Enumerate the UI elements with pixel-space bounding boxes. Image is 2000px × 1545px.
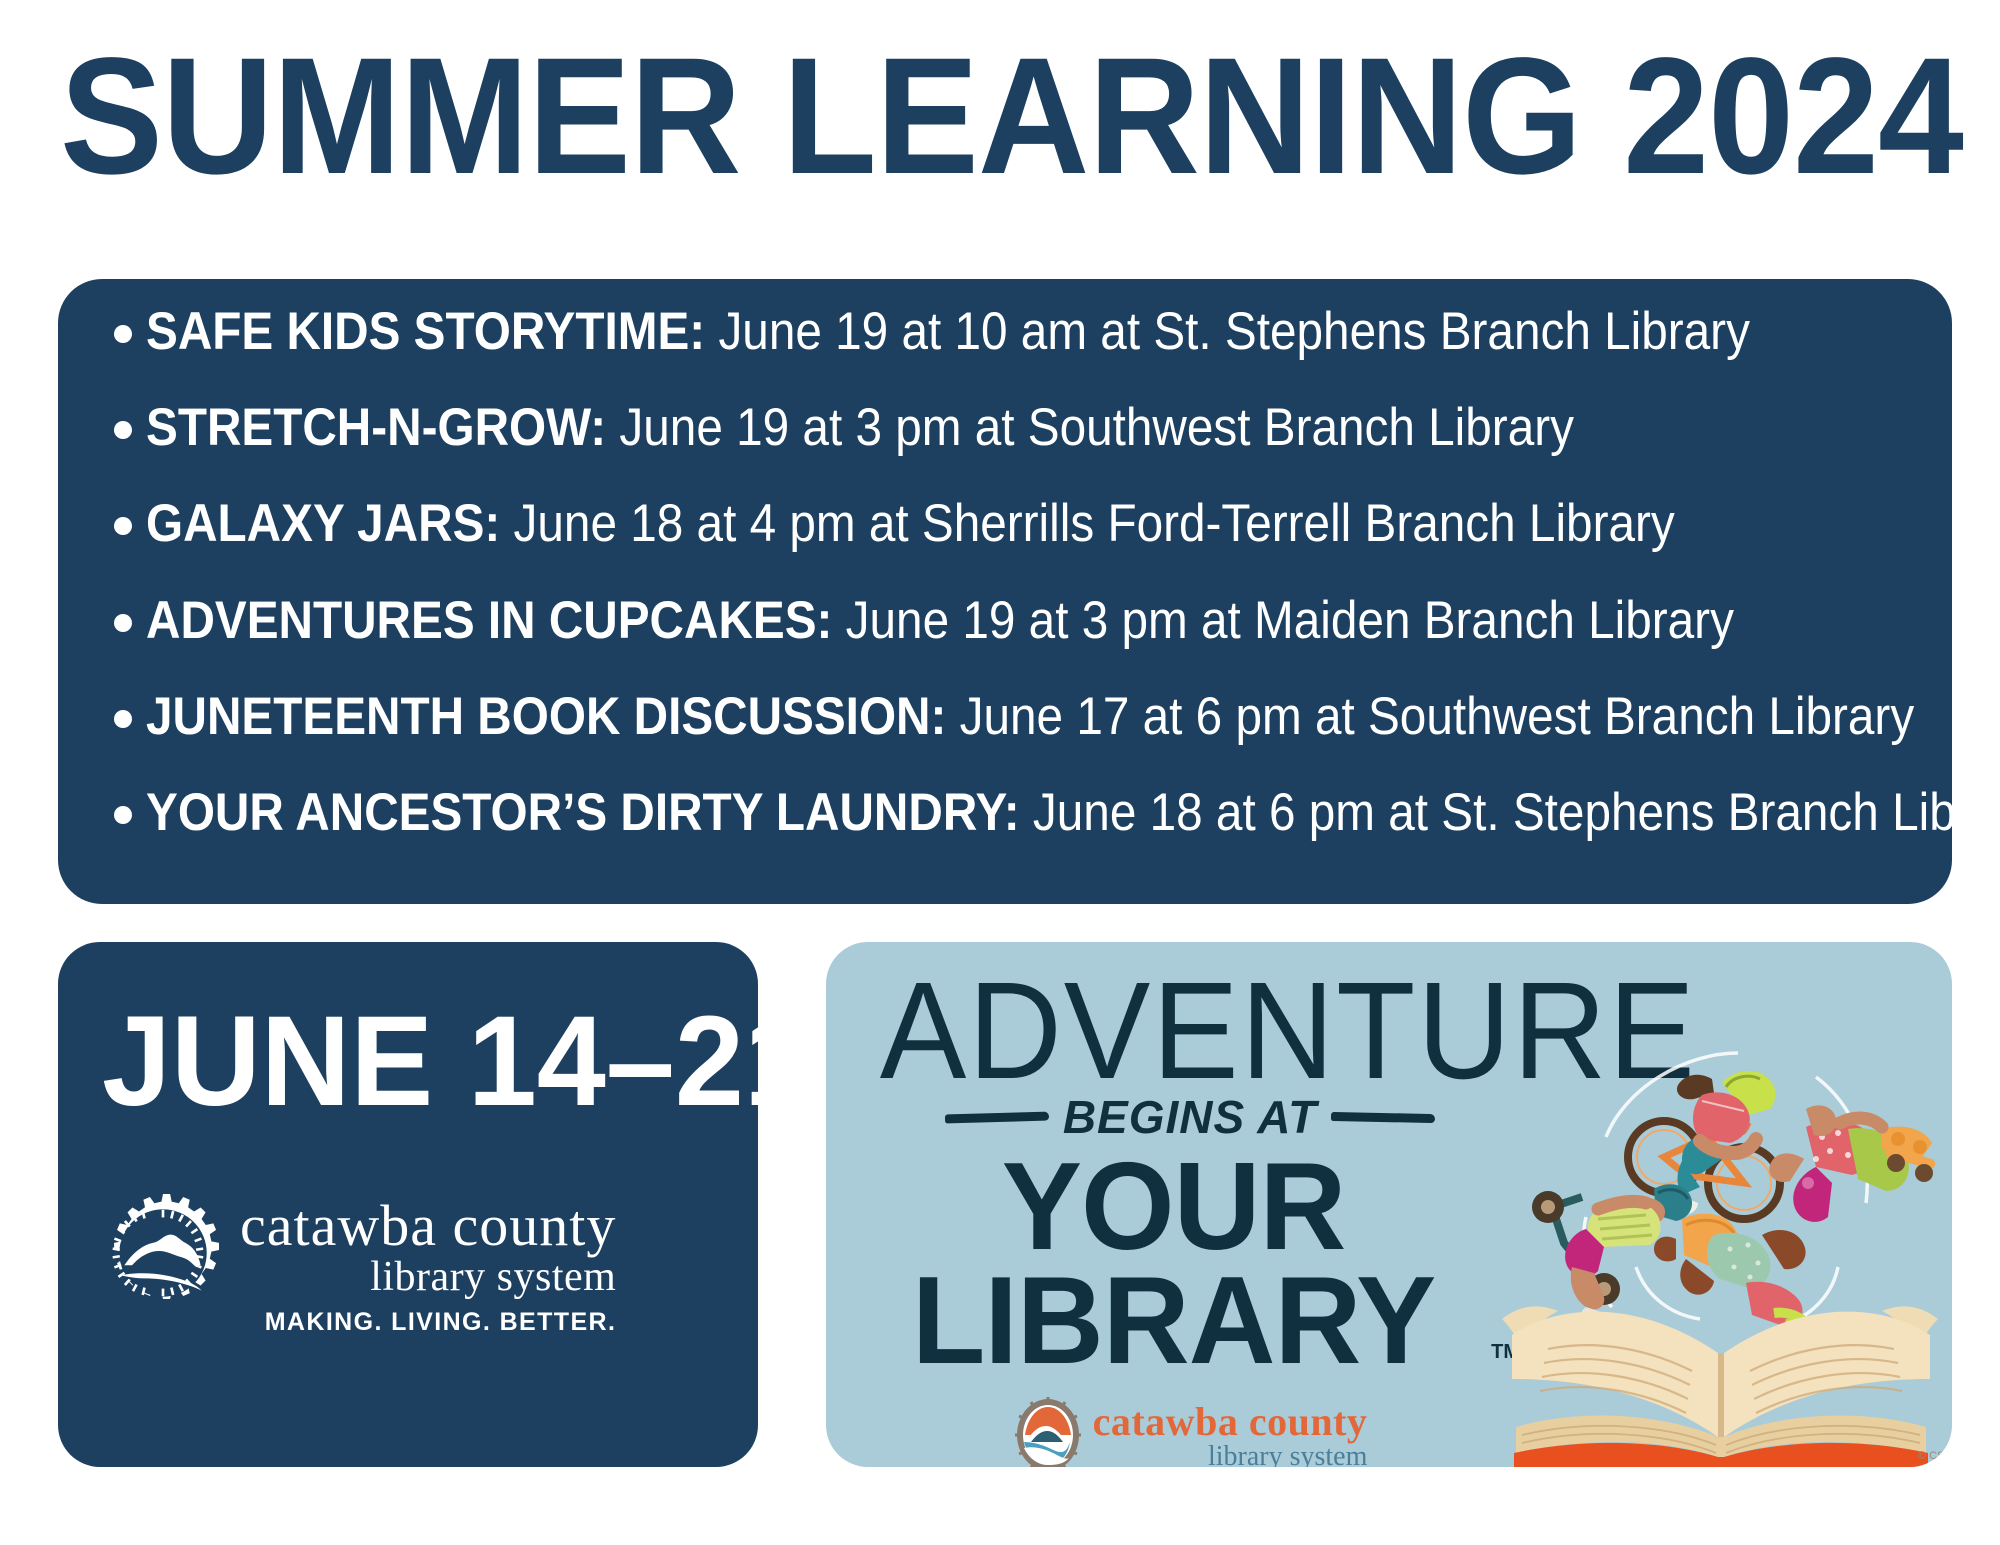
event-name: SAFE KIDS STORYTIME: <box>146 302 705 361</box>
copyright-mark: © CSLP <box>1918 1450 1952 1462</box>
skateboard-rider <box>1769 1105 1936 1222</box>
event-details: June 18 at 6 pm at St. Stephens Branch L… <box>1020 783 2000 842</box>
logo-tagline: MAKING. LIVING. BETTER. <box>240 1307 616 1337</box>
your-library-wordmark: YOUR LIBRARY <box>869 1150 1477 1378</box>
date-range: JUNE 14–21 <box>102 998 696 1126</box>
bullet-icon <box>100 692 146 736</box>
list-item: JUNETEENTH BOOK DISCUSSION: June 17 at 6… <box>100 690 1912 786</box>
event-details: June 17 at 6 pm at Southwest Branch Libr… <box>946 687 1914 746</box>
logo-name: catawba county <box>1093 1402 1368 1442</box>
logo-name: catawba county <box>240 1198 616 1255</box>
brush-stroke-left-icon <box>945 1111 1049 1123</box>
brush-stroke-right-icon <box>1331 1111 1435 1122</box>
event-details: June 19 at 10 am at St. Stephens Branch … <box>705 302 1750 361</box>
event-details: June 18 at 4 pm at Sherrills Ford-Terrel… <box>500 494 1674 553</box>
page-title: SUMMER LEARNING 2024 <box>60 34 1827 200</box>
bullet-icon <box>100 403 146 447</box>
bullet-icon <box>100 596 146 640</box>
list-item: ADVENTURES IN CUPCAKES: June 19 at 3 pm … <box>100 594 1912 690</box>
summer-learning-poster: SUMMER LEARNING 2024 SAFE KIDS STORYTIME… <box>0 0 2000 1545</box>
date-card: JUNE 14–21 <box>58 942 758 1467</box>
adventure-begins-at-your-library-panel: ADVENTURE BEGINS AT YOUR LIBRARY TM <box>826 942 1952 1467</box>
list-item: STRETCH-N-GROW: June 19 at 3 pm at South… <box>100 401 1912 497</box>
bullet-icon <box>100 499 146 543</box>
logo-subtitle: library system <box>1093 1442 1368 1467</box>
event-name: GALAXY JARS: <box>146 494 500 553</box>
event-name: STRETCH-N-GROW: <box>146 398 606 457</box>
bullet-icon <box>100 307 146 351</box>
catawba-county-library-logo-color: catawba county library system <box>860 1396 1520 1467</box>
list-item: GALAXY JARS: June 18 at 4 pm at Sherrill… <box>100 497 1912 593</box>
event-details: June 19 at 3 pm at Southwest Branch Libr… <box>606 398 1574 457</box>
gear-logo-icon <box>102 1192 224 1314</box>
events-card: SAFE KIDS STORYTIME: June 19 at 10 am at… <box>58 279 1952 904</box>
gear-logo-icon <box>1013 1396 1083 1467</box>
open-book <box>1502 1306 1938 1467</box>
logo-subtitle: library system <box>240 1255 616 1299</box>
event-name: ADVENTURES IN CUPCAKES: <box>146 591 832 650</box>
bicycle-rider <box>1628 1071 1780 1219</box>
list-item: YOUR ANCESTOR’S DIRTY LAUNDRY: June 18 a… <box>100 786 1912 882</box>
kids-on-wheels-over-open-book-illustration: © CSLP <box>1486 967 1952 1467</box>
event-name: YOUR ANCESTOR’S DIRTY LAUNDRY: <box>146 783 1020 842</box>
event-name: JUNETEENTH BOOK DISCUSSION: <box>146 687 946 746</box>
event-details: June 19 at 3 pm at Maiden Branch Library <box>832 591 1734 650</box>
adventure-wordmark: ADVENTURE <box>880 962 1500 1100</box>
list-item: SAFE KIDS STORYTIME: June 19 at 10 am at… <box>100 305 1912 401</box>
catawba-county-library-logo: catawba county library system MAKING. LI… <box>102 1192 714 1337</box>
bullet-icon <box>100 788 146 832</box>
